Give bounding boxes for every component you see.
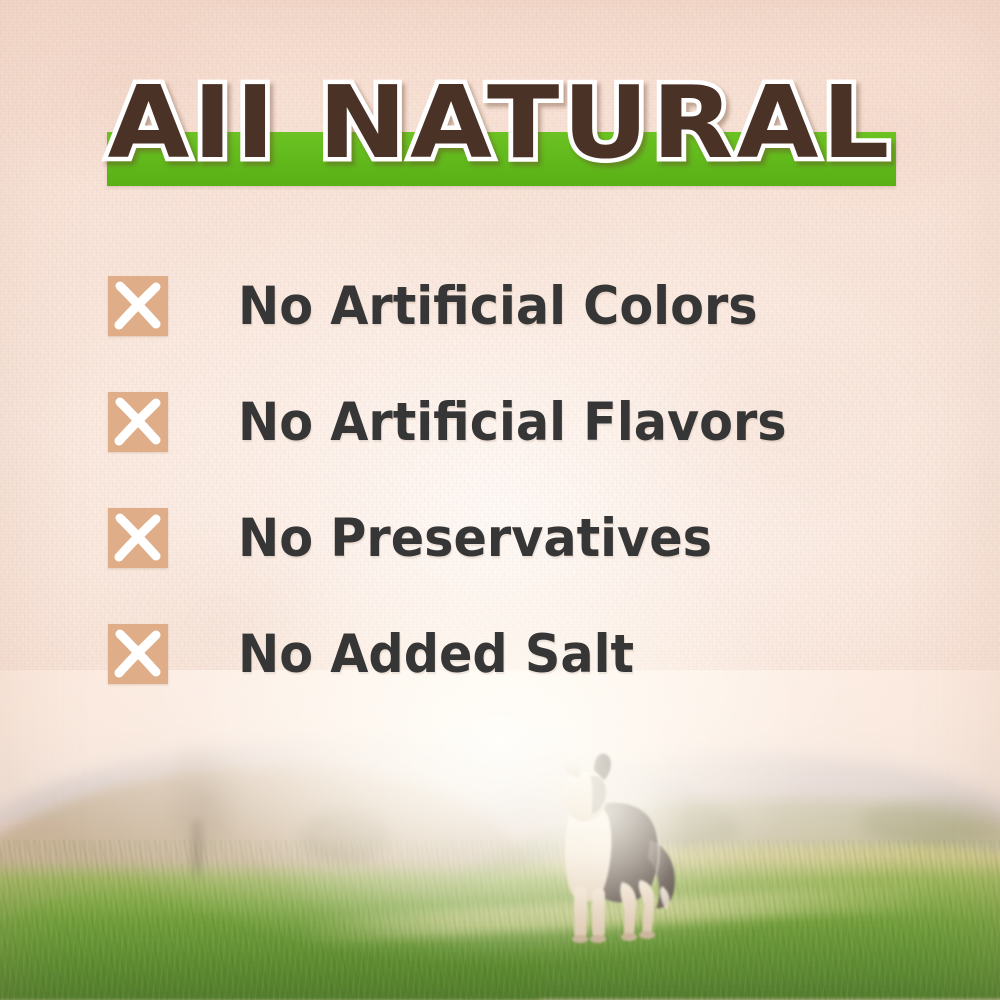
x-mark-icon	[108, 392, 168, 452]
border-collie-dog	[536, 748, 686, 948]
page-title: AII NATURAL	[0, 70, 1000, 175]
shrub-left	[300, 808, 390, 864]
list-item-label: No Artificial Flavors	[238, 396, 787, 449]
list-item-label: No Preservatives	[238, 512, 712, 565]
claims-list: No Artificial Colors No Artificial Flavo…	[108, 248, 908, 712]
list-item-label: No Added Salt	[238, 628, 634, 681]
list-item: No Added Salt	[108, 596, 908, 712]
x-mark-icon	[108, 508, 168, 568]
list-item: No Artificial Flavors	[108, 364, 908, 480]
list-item: No Artificial Colors	[108, 248, 908, 364]
x-mark-icon	[108, 276, 168, 336]
list-item: No Preservatives	[108, 480, 908, 596]
landscape-photo	[0, 670, 1000, 1000]
x-mark-icon	[108, 624, 168, 684]
shrub-right	[860, 798, 1000, 846]
all-natural-infographic: AII NATURAL No Artificial Colors No Arti…	[0, 0, 1000, 1000]
list-item-label: No Artificial Colors	[238, 280, 758, 333]
